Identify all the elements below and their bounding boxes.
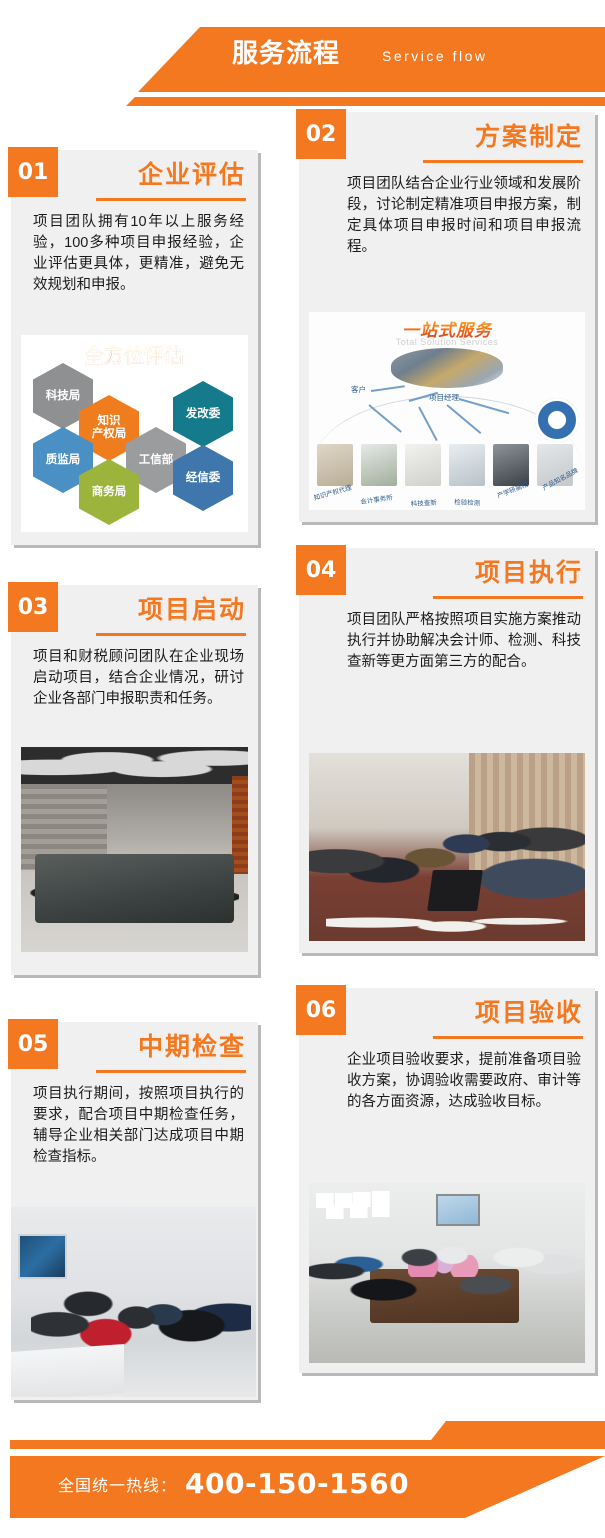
title-underline-05 [96,1070,246,1073]
step-card-01: 01 企业评估 项目团队拥有10年以上服务经验，100多种项目申报经验，企业评估… [11,150,258,545]
diagram-subtitle: Total Solution Services [396,337,499,347]
step-title-04: 项目执行 [475,556,583,590]
hex-node-label-4: 工信部 [139,454,174,467]
step-title-06: 项目验收 [475,996,583,1030]
step-description-05: 项目执行期间，按照项目执行的要求，配合项目中期检查任务，辅导企业相关部门达成项目… [33,1084,244,1168]
step-media-04 [309,753,585,941]
step-title-03: 项目启动 [138,593,246,627]
thumb-3 [449,444,485,486]
hexagon-infographic: 全方位评估 科技局 知识 产权局 发改委 质监局 工信部 [21,335,248,532]
service-flow-poster: 服务流程 Service flow 01 企业评估 项目团队拥有10年以上服务经… [0,0,605,1538]
hex-node-label-0: 科技局 [46,390,81,403]
photo-acceptance-meeting [309,1183,585,1363]
thumb-1 [361,444,397,486]
hex-node-label-2: 发改委 [186,408,221,421]
footer-accent-stripe [10,1440,465,1449]
step-title-01: 企业评估 [138,158,246,192]
ceiling-lights [21,747,248,784]
one-stop-service-diagram: 一站式服务 Total Solution Services 客户 项目经理 [309,312,585,510]
reception-counter [11,1344,124,1397]
photo-team-working [309,753,585,941]
quality-seal-icon [535,398,579,442]
hex-node-label-1: 知识 产权局 [92,415,127,441]
header-banner-shape [138,27,605,92]
laptop-icon [428,870,483,911]
step-card-06: 06 项目验收 企业项目验收要求，提前准备项目验收方案，协调验收需要政府、审计等… [299,988,595,1373]
thumb-2 [405,444,441,486]
hex-node-label-5: 商务局 [92,486,127,499]
step-description-02: 项目团队结合企业行业领域和发展阶段，讨论制定精准项目申报方案，制定具体项目申报时… [347,174,581,258]
diagram-bottom-label-2: 科技查新 [410,497,436,508]
hotline-number[interactable]: 400-150-1560 [185,1467,409,1501]
step-number-badge-04: 04 [296,545,346,595]
desk-papers [326,907,569,933]
page-subtitle: Service flow [382,46,487,66]
step-media-06 [309,1183,585,1363]
diagram-bottom-label-1: 会计事务所 [360,492,394,506]
step-media-05 [11,1207,256,1397]
step-description-01: 项目团队拥有10年以上服务经验，100多种项目申报经验，企业评估更具体，更精准，… [33,212,244,296]
page-title: 服务流程 [232,36,340,70]
title-underline-01 [96,198,246,201]
header-banner: 服务流程 Service flow [0,0,605,112]
step-number-badge-05: 05 [8,1019,58,1069]
title-underline-06 [433,1036,583,1039]
step-description-04: 项目团队严格按照项目实施方案推动执行并协助解决会计师、检测、科技查新等更方面第三… [347,610,581,673]
hex-node-label-6: 经信委 [186,472,221,485]
diagram-hero-photo [391,348,503,388]
photo-site-visit [11,1207,256,1397]
title-underline-02 [423,160,583,163]
step-media-02: 一站式服务 Total Solution Services 客户 项目经理 [309,312,585,510]
step-number-badge-02: 02 [296,109,346,159]
step-title-05: 中期检查 [138,1030,246,1064]
step-card-05: 05 中期检查 项目执行期间，按照项目执行的要求，配合项目中期检查任务，辅导企业… [11,1022,258,1400]
step-media-03 [21,747,248,952]
step-number-badge-03: 03 [8,582,58,632]
step-description-06: 企业项目验收要求，提前准备项目验收方案，协调验收需要政府、审计等的各方面资源，达… [347,1050,581,1113]
title-underline-03 [96,633,246,636]
meeting-attendees [309,1223,585,1338]
diagram-label-customer: 客户 [351,384,366,395]
step-number-badge-01: 01 [8,147,58,197]
arrow-0 [371,385,405,392]
step-title-02: 方案制定 [475,120,583,154]
hotline-label: 全国统一热线： [58,1474,177,1500]
presentation-screen [436,1194,480,1226]
photo-conference-room [21,747,248,952]
header-accent-stripe [126,97,605,106]
step-description-03: 项目和财税顾问团队在企业现场启动项目，结合企业情况，研讨企业各部门申报职责和任务… [33,647,244,710]
step-media-01: 全方位评估 科技局 知识 产权局 发改委 质监局 工信部 [21,335,248,532]
step-number-badge-06: 06 [296,985,346,1035]
hex-node-2: 发改委 [173,381,233,447]
infographic-title: 全方位评估 [84,341,184,368]
diagram-bottom-label-3: 检验检测 [454,496,480,507]
footer-banner: 全国统一热线： 400-150-1560 [0,1418,605,1538]
thumb-0 [317,444,353,486]
step-card-03: 03 项目启动 项目和财税顾问团队在企业现场启动项目，结合企业情况，研讨企业各部… [11,585,258,975]
step-card-04: 04 项目执行 项目团队严格按照项目实施方案推动执行并协助解决会计师、检测、科技… [299,548,595,953]
title-underline-04 [433,596,583,599]
seated-attendees [30,860,239,942]
hex-node-label-3: 质监局 [46,454,81,467]
step-card-02: 02 方案制定 项目团队结合企业行业领域和发展阶段，讨论制定精准项目申报方案，制… [299,112,595,522]
